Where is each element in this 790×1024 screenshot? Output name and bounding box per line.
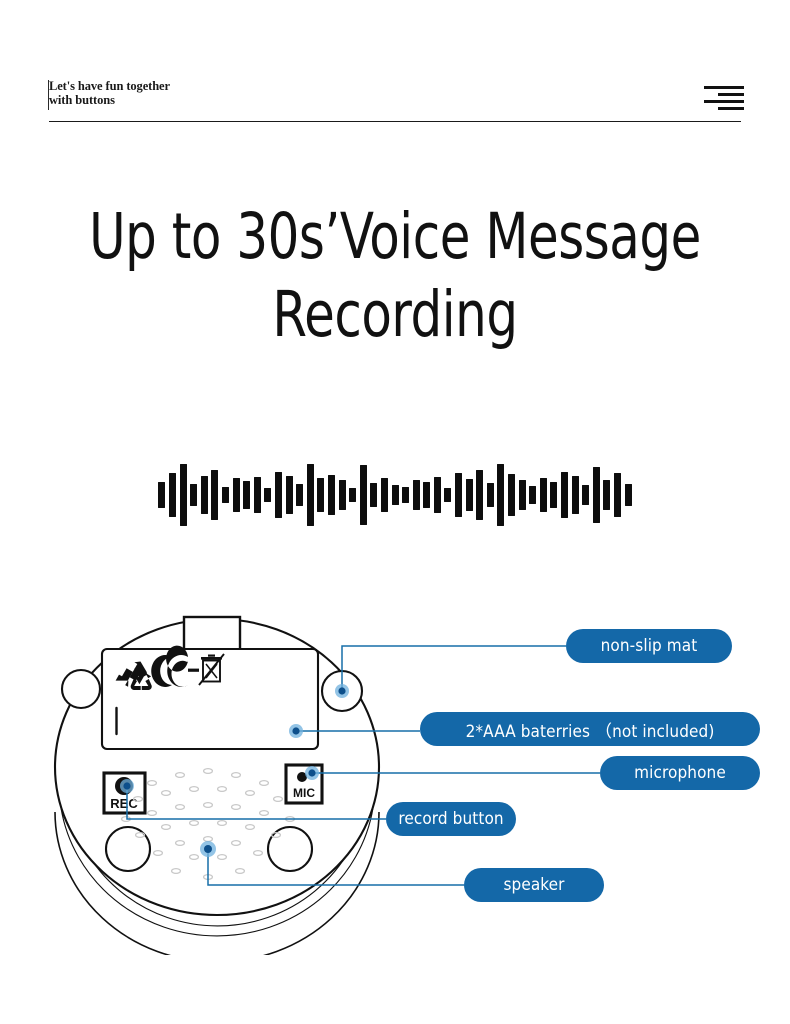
header-divider <box>49 121 741 122</box>
waveform-bar <box>222 487 229 503</box>
waveform-bar <box>455 473 462 517</box>
waveform-bar <box>593 467 600 523</box>
waveform-bar <box>370 483 377 507</box>
waveform-bar <box>158 482 165 508</box>
waveform-bar <box>328 475 335 515</box>
waveform-bar <box>233 478 240 512</box>
waveform-bar <box>614 473 621 517</box>
menu-line-4 <box>718 107 744 110</box>
waveform-bar <box>264 488 271 502</box>
waveform-bar <box>317 478 324 512</box>
callout-label: speaker <box>503 875 564 895</box>
waveform-bar <box>444 488 451 502</box>
waveform-bar <box>402 487 409 503</box>
waveform-bar <box>360 465 367 525</box>
non-slip-mat-foot <box>62 670 100 708</box>
callout-record-button[interactable]: record button <box>386 802 516 836</box>
callout-speaker[interactable]: speaker <box>464 868 604 902</box>
waveform-bar <box>519 480 526 510</box>
waveform-bar <box>625 484 632 506</box>
brand-tagline: Let's have fun together with buttons <box>49 80 170 107</box>
waveform-bar <box>190 484 197 506</box>
menu-line-2 <box>718 93 744 96</box>
waveform-bar <box>434 477 441 513</box>
callout-label: 2*AAA baterries （not included) <box>466 717 715 742</box>
page-title-line-2: Recording <box>272 278 517 351</box>
waveform-bar <box>286 476 293 514</box>
page-title: Up to 30s’Voice Message Recording <box>47 198 742 354</box>
waveform-bar <box>529 486 536 504</box>
waveform-bar <box>423 482 430 508</box>
menu-line-1 <box>704 86 744 89</box>
page-root: Let's have fun together with buttons Up … <box>0 0 790 1024</box>
waveform-bar <box>339 480 346 510</box>
waveform-bar <box>466 479 473 511</box>
waveform-bar <box>540 478 547 512</box>
waveform-bar <box>254 477 261 513</box>
waveform-bar <box>476 470 483 520</box>
callout-label: non-slip mat <box>601 636 698 656</box>
callout-batteries[interactable]: 2*AAA baterries （not included) <box>420 712 760 746</box>
waveform-bar <box>275 472 282 518</box>
waveform-bar <box>413 480 420 510</box>
waveform-bar <box>572 476 579 514</box>
callout-label: record button <box>398 809 503 829</box>
non-slip-mat-foot <box>268 827 312 871</box>
waveform-bar <box>243 481 250 509</box>
waveform-bar <box>392 485 399 505</box>
waveform-bar <box>296 484 303 506</box>
waveform-bar <box>582 485 589 505</box>
waveform-bar <box>550 482 557 508</box>
hamburger-menu-icon[interactable] <box>704 84 744 114</box>
waveform-bar <box>381 478 388 512</box>
menu-line-3 <box>704 100 744 103</box>
waveform-bar <box>180 464 187 526</box>
waveform-bar <box>603 480 610 510</box>
page-title-line-1: Up to 30s’Voice Message <box>89 200 701 273</box>
svg-text:MIC: MIC <box>293 786 315 800</box>
page-header: Let's have fun together with buttons <box>0 0 790 131</box>
callout-microphone[interactable]: microphone <box>600 756 760 790</box>
callout-label: microphone <box>634 763 726 783</box>
waveform-bar <box>307 464 314 526</box>
audio-waveform-graphic <box>0 455 790 535</box>
callout-non-slip-mat[interactable]: non-slip mat <box>566 629 732 663</box>
waveform-bar <box>561 472 568 518</box>
waveform-bar <box>201 476 208 514</box>
record-button: REC <box>104 773 145 813</box>
waveform-bar <box>508 474 515 516</box>
battery-compartment-door <box>102 649 318 749</box>
waveform-bar <box>349 488 356 502</box>
waveform-bar <box>497 464 504 526</box>
waveform-bar <box>169 473 176 517</box>
waveform-bar <box>487 483 494 507</box>
battery-door-latch <box>184 617 240 651</box>
waveform-bar <box>211 470 218 520</box>
